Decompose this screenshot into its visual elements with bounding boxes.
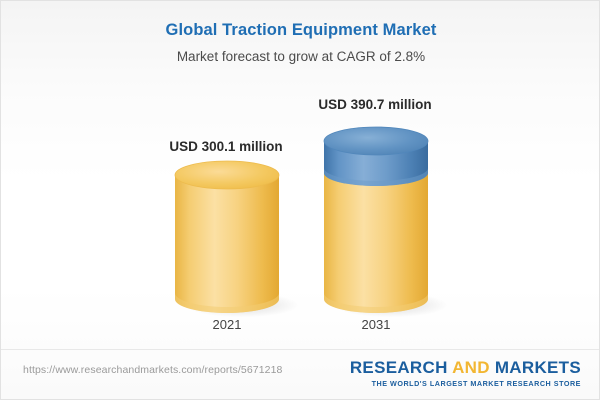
logo-word-research: RESEARCH — [350, 358, 448, 377]
category-label-2021: 2021 — [157, 317, 297, 332]
logo-wordmark: RESEARCH AND MARKETS — [350, 358, 581, 377]
logo-word-markets: MARKETS — [495, 358, 581, 377]
logo-tagline: THE WORLD'S LARGEST MARKET RESEARCH STOR… — [350, 379, 581, 388]
bar-cylinder-2031[interactable] — [322, 125, 430, 315]
logo-word-and: AND — [452, 358, 490, 377]
chart-footer: https://www.researchandmarkets.com/repor… — [1, 349, 600, 399]
footer-divider — [1, 349, 599, 350]
chart-plot-area: USD 300.1 million — [1, 1, 600, 349]
value-label-2021: USD 300.1 million — [156, 139, 296, 154]
value-label-2031: USD 390.7 million — [305, 97, 445, 112]
brand-logo[interactable]: RESEARCH AND MARKETS THE WORLD'S LARGEST… — [350, 358, 581, 388]
chart-card: Global Traction Equipment Market Market … — [0, 0, 600, 400]
category-label-2031: 2031 — [306, 317, 446, 332]
report-url[interactable]: https://www.researchandmarkets.com/repor… — [23, 364, 282, 376]
bar-cylinder-2021[interactable] — [173, 159, 281, 315]
